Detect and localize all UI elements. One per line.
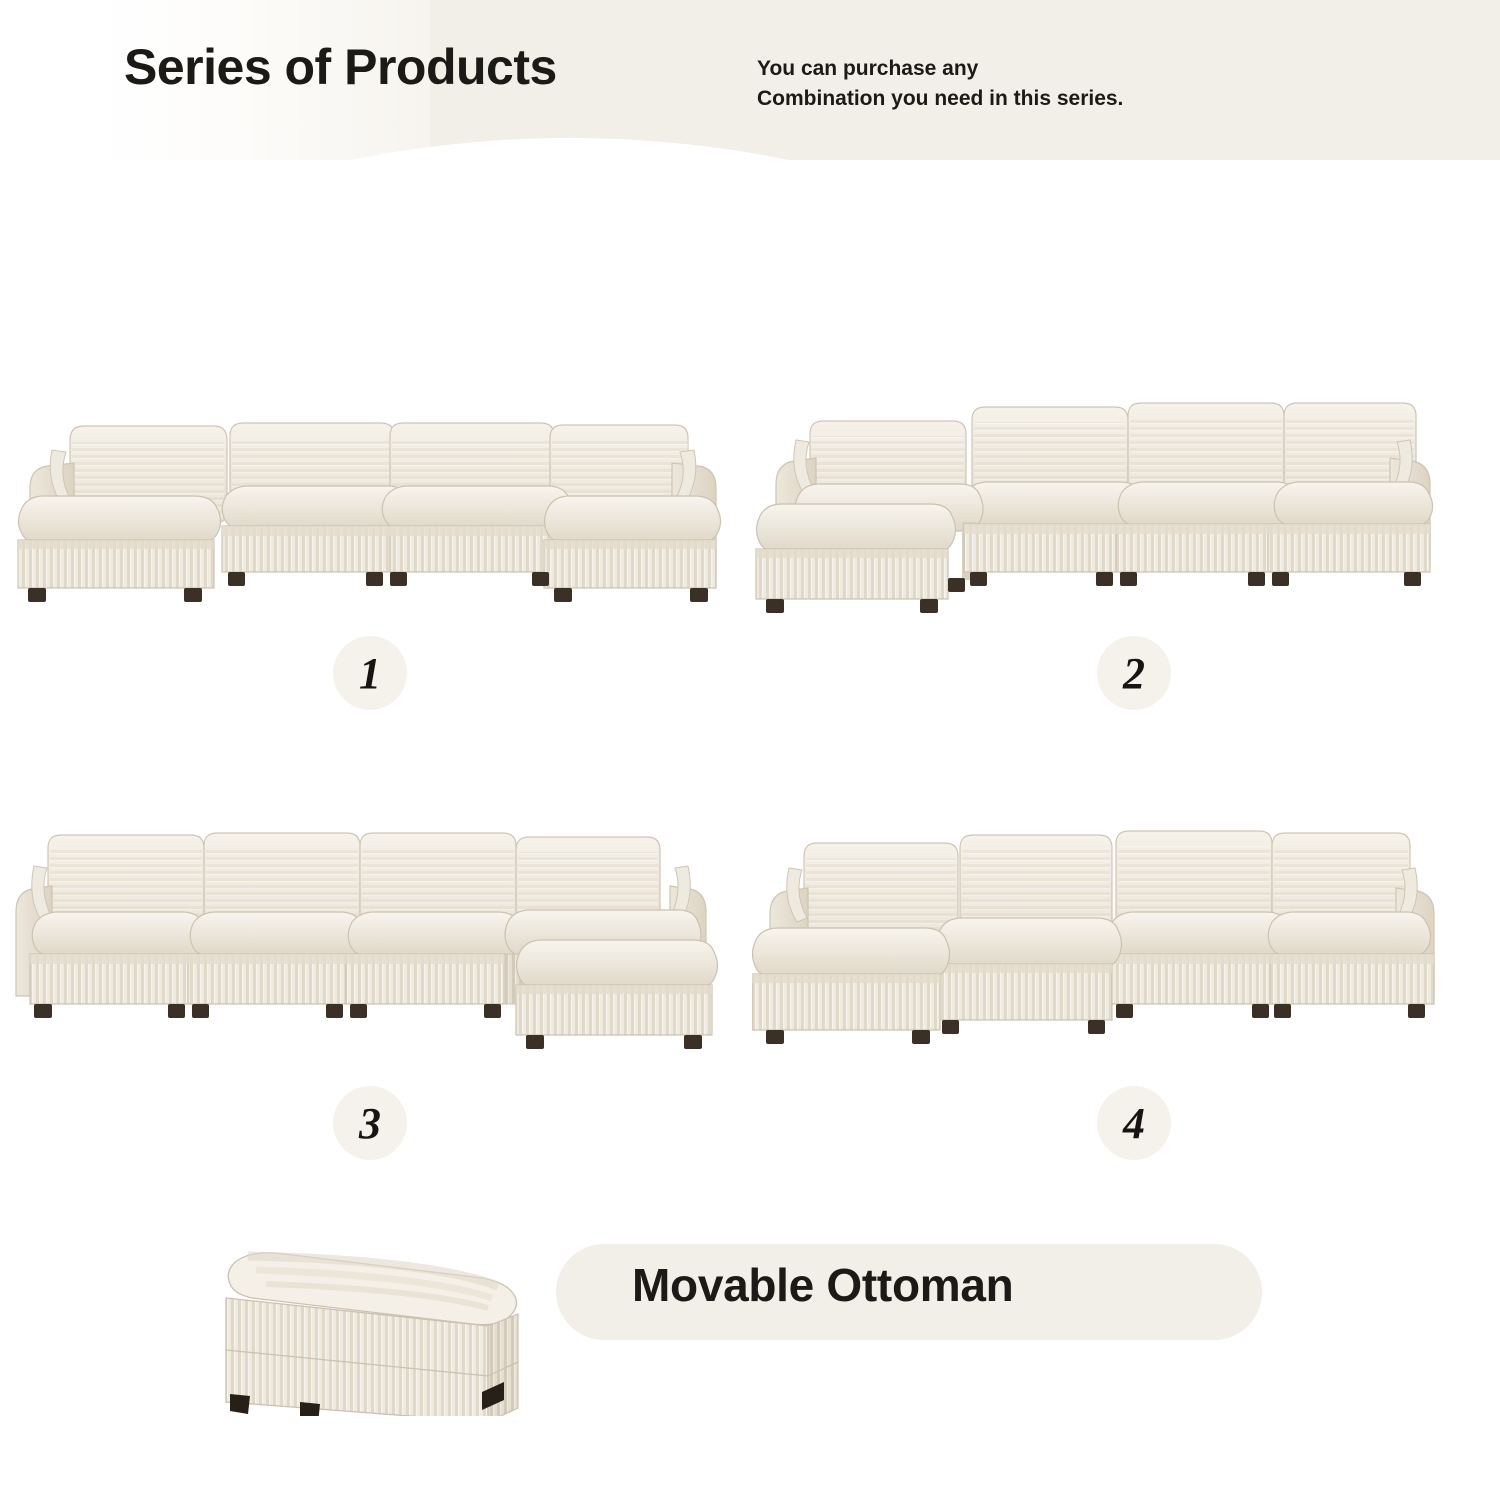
cfg1-seat-cushions	[222, 486, 572, 530]
configuration-1-badge: 1	[333, 636, 407, 710]
configuration-3-badge: 3	[333, 1086, 407, 1160]
configuration-2-image	[752, 392, 1452, 622]
subtitle-line-1: You can purchase any	[757, 54, 1123, 84]
cfg1-ottoman-right	[544, 496, 721, 588]
configuration-3-image	[8, 822, 738, 1052]
movable-ottoman-image	[196, 1186, 556, 1421]
cfg4-ottoman-inner	[936, 918, 1122, 1020]
cfg2-bases	[964, 524, 1430, 572]
page-subtitle: You can purchase any Combination you nee…	[757, 54, 1123, 114]
cfg3-ottoman	[516, 940, 718, 1035]
cfg1-ottoman-left	[18, 496, 221, 588]
cfg4-bases	[1110, 954, 1434, 1004]
configuration-1-image	[8, 392, 738, 622]
cfg4-seat-cushions	[1108, 912, 1430, 957]
subtitle-line-2: Combination you need in this series.	[757, 84, 1123, 114]
configuration-2-badge: 2	[1097, 636, 1171, 710]
configuration-4-badge: 4	[1097, 1086, 1171, 1160]
cfg4-ottoman-outer	[752, 928, 950, 1030]
cfg3-bases	[30, 954, 524, 1004]
cfg3-seat-cushions	[32, 912, 522, 957]
cfg1-bases	[222, 526, 558, 572]
cfg2-ottoman	[756, 504, 956, 599]
cfg2-seat-cushions	[962, 482, 1432, 527]
configuration-4-image	[752, 822, 1452, 1052]
page-title: Series of Products	[124, 38, 557, 96]
movable-ottoman-label: Movable Ottoman	[632, 1258, 1013, 1312]
